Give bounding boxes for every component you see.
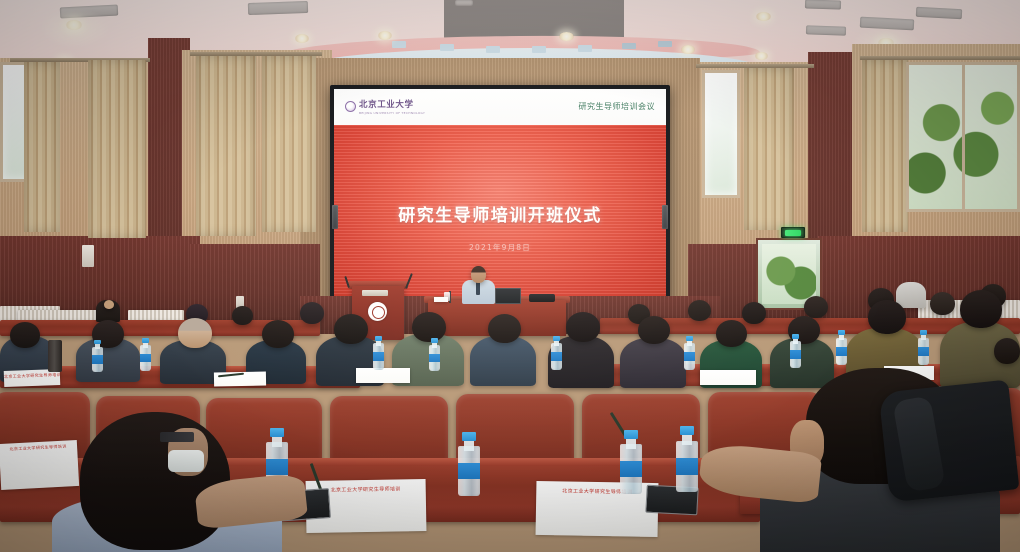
curtain-right-a — [862, 60, 908, 232]
attendee-head — [868, 300, 906, 334]
attendee-head — [804, 296, 828, 318]
water-bottle — [551, 336, 562, 370]
curtain-right-inner — [744, 68, 794, 230]
soffit-light-slot — [440, 44, 454, 51]
downlight — [295, 34, 309, 43]
attendee-head — [742, 302, 766, 324]
downlight — [681, 45, 695, 54]
university-logo-subtext: BEIJING UNIVERSITY OF TECHNOLOGY — [359, 111, 425, 115]
curtain-left-inner-a — [196, 56, 256, 236]
attendee-head-bald — [178, 318, 212, 348]
running-man-exit-icon — [785, 230, 801, 236]
attendee-head — [300, 302, 324, 324]
podium-nameplate — [362, 290, 388, 296]
soffit-light-slot — [622, 43, 636, 49]
attendee-head — [994, 338, 1020, 364]
water-bottle — [918, 330, 929, 365]
water-bottle — [676, 426, 698, 492]
handout-paper — [700, 370, 756, 385]
downlight — [755, 52, 768, 60]
water-bottle — [429, 338, 440, 371]
attendee-body — [470, 336, 536, 386]
speaker-laptop — [495, 288, 521, 304]
air-vent — [248, 1, 308, 15]
soffit-light-slot — [532, 46, 546, 53]
led-presentation-screen: 北京工业大学 BEIJING UNIVERSITY OF TECHNOLOGY … — [330, 85, 670, 304]
attendee-head — [566, 312, 600, 342]
window-right-a — [702, 70, 740, 198]
screen-surface: 北京工业大学 BEIJING UNIVERSITY OF TECHNOLOGY … — [334, 89, 666, 300]
attendee-head — [688, 300, 711, 321]
water-bottle — [92, 340, 103, 372]
water-bottle — [790, 334, 801, 368]
slide-header: 北京工业大学 BEIJING UNIVERSITY OF TECHNOLOGY … — [334, 89, 666, 125]
table-paper — [434, 297, 448, 302]
attendee-head — [930, 292, 955, 315]
exit-door-glass — [762, 244, 816, 304]
wall-switch-left — [82, 245, 94, 267]
university-logo-text: 北京工业大学 — [359, 98, 425, 110]
downlight — [756, 12, 771, 21]
paper-header-text: 北京工业大学研究生导师培训 — [4, 372, 60, 380]
thermos-cup — [48, 340, 62, 372]
curtain-left-inner-b — [262, 56, 316, 232]
university-crest-icon — [345, 101, 356, 112]
slide-body: 研究生导师培训开班仪式 2021年9月8日 — [334, 125, 666, 300]
water-bottle — [684, 336, 695, 370]
attendee-head — [960, 290, 1002, 328]
air-vent — [455, 0, 473, 6]
attendee-head — [488, 314, 521, 343]
soffit-light-slot — [658, 41, 672, 47]
attendee-face — [104, 300, 114, 309]
face-mask — [168, 450, 204, 472]
air-vent — [805, 0, 841, 10]
attendee-head — [232, 306, 253, 325]
soffit-light-slot — [578, 45, 592, 52]
handout-paper — [356, 368, 410, 383]
attendee-head — [10, 322, 40, 348]
speaker-head — [471, 266, 486, 283]
paper-header-text: 北京工业大学研究生导师培训 — [0, 443, 77, 453]
podium-university-emblem — [368, 302, 387, 321]
eyeglasses — [160, 432, 194, 442]
water-bottle — [373, 336, 384, 370]
av-equipment-box — [529, 294, 555, 302]
attendee-head — [716, 320, 747, 347]
water-bottle — [836, 330, 847, 365]
window-mullion — [962, 62, 965, 212]
speaker-grille-left — [332, 205, 338, 229]
attendee-body — [770, 338, 834, 388]
light-glow — [40, 8, 110, 48]
attendee-body — [620, 338, 686, 388]
downlight — [378, 31, 392, 40]
downlight — [559, 32, 574, 41]
ceiling-center-panel — [444, 0, 624, 40]
water-bottle — [620, 430, 642, 494]
exit-sign — [781, 227, 805, 238]
attendee-head — [262, 320, 294, 348]
slide-header-right-text: 研究生导师培训会议 — [579, 101, 656, 112]
curtain-left-a — [24, 62, 60, 232]
conference-hall-photo: 北京工业大学 BEIJING UNIVERSITY OF TECHNOLOGY … — [0, 0, 1020, 552]
soffit-light-slot — [392, 41, 406, 48]
speaker-tie — [476, 282, 480, 295]
speaker-grille-right — [662, 205, 668, 229]
slide-date: 2021年9月8日 — [469, 242, 531, 253]
curtain-left-b — [88, 60, 146, 238]
slide-title: 研究生导师培训开班仪式 — [398, 201, 602, 226]
university-logo: 北京工业大学 BEIJING UNIVERSITY OF TECHNOLOGY — [345, 98, 425, 115]
attendee-head — [638, 316, 670, 344]
handout-paper: 北京工业大学研究生导师培训 — [0, 440, 79, 490]
soffit-light-slot — [486, 46, 500, 53]
attendee-hair-foreground — [80, 412, 230, 550]
air-vent — [806, 25, 846, 35]
water-bottle — [140, 338, 151, 371]
attendee-head — [334, 314, 368, 344]
water-bottle — [458, 432, 480, 496]
